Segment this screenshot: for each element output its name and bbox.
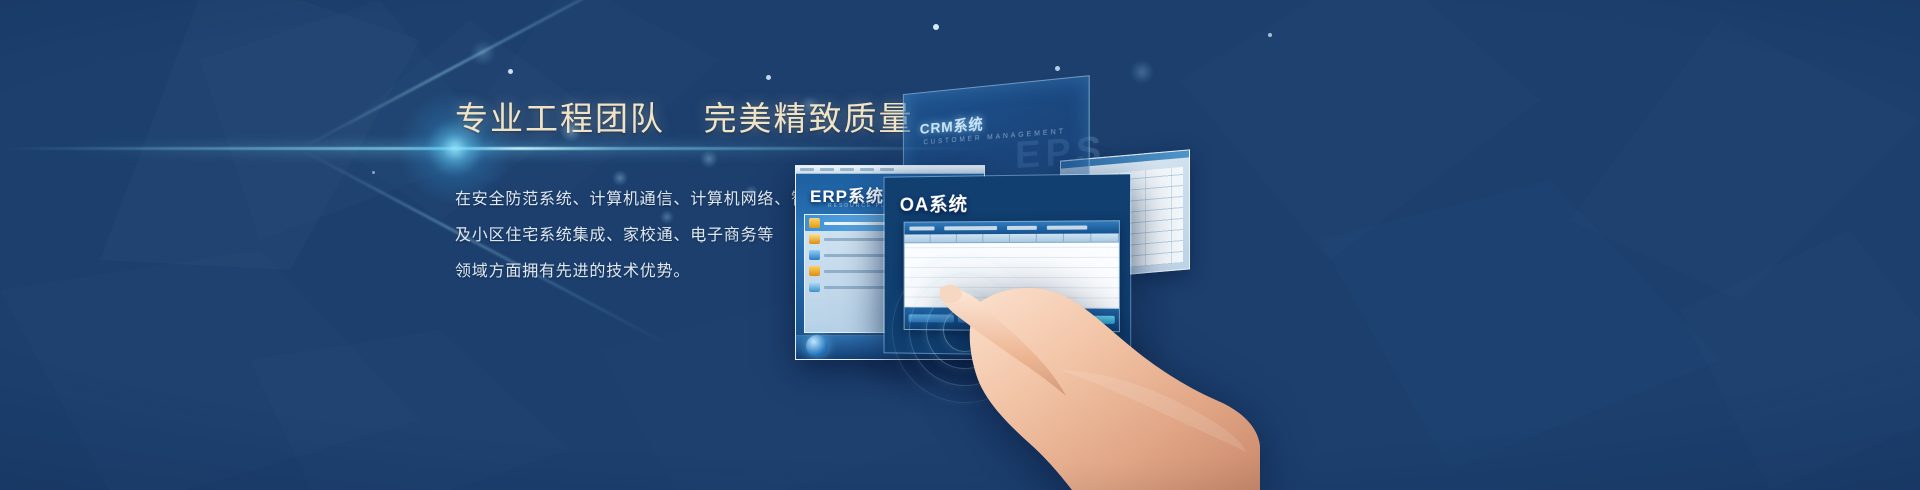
software-screens-illustration: EPS HAN CRM系统 CUSTOMER MANAGEMENT ERP系统 … — [760, 40, 1260, 440]
polygon-shape — [0, 250, 420, 490]
erp-sidebar-label — [824, 270, 891, 273]
table-column — [1091, 233, 1119, 241]
erp-sidebar-item — [805, 279, 895, 295]
polygon-shape — [250, 330, 570, 490]
folder-icon — [809, 266, 820, 276]
erp-sidebar-item — [805, 215, 895, 231]
erp-sidebar-item — [805, 263, 895, 279]
document-icon — [809, 250, 820, 260]
erp-sidebar-label — [824, 286, 891, 289]
polygon-shape — [1680, 230, 1920, 490]
table-column — [1064, 234, 1091, 242]
menubar-item — [800, 168, 814, 171]
start-orb-icon — [806, 335, 828, 357]
erp-sidebar — [804, 214, 896, 333]
menubar-item — [840, 168, 854, 171]
erp-sidebar-item — [805, 231, 895, 247]
menubar-item — [820, 168, 834, 171]
oa-window-title: OA系统 — [900, 189, 968, 216]
erp-menubar — [796, 166, 984, 174]
table-column — [983, 234, 1010, 242]
erp-sidebar-label — [824, 238, 891, 241]
table-column — [931, 234, 957, 242]
particle-dot — [508, 69, 513, 74]
headline-part-1: 专业工程团队 — [455, 102, 665, 138]
bokeh-light — [470, 40, 496, 66]
pointing-hand — [940, 250, 1260, 490]
folder-icon — [809, 218, 820, 228]
table-column — [1010, 234, 1037, 242]
banner-root: 专业工程团队 完美精致质量 在安全防范系统、计算机通信、计算机网络、智能大厦 及… — [0, 0, 1920, 490]
menubar-item — [880, 168, 894, 171]
polygon-shape — [1320, 180, 1720, 470]
polygon-shape — [1560, 20, 1920, 300]
erp-sidebar-item — [805, 247, 895, 263]
particle-dot — [1268, 33, 1272, 37]
table-column — [1037, 234, 1064, 242]
folder-icon — [809, 234, 820, 244]
particle-dot — [372, 171, 375, 174]
oa-toolbar — [905, 221, 1119, 234]
menubar-item — [860, 168, 874, 171]
chart-icon — [809, 282, 820, 292]
toolbar-item — [909, 226, 934, 230]
erp-sidebar-label — [824, 254, 891, 257]
table-column — [957, 234, 983, 242]
erp-sidebar-label — [824, 222, 891, 225]
table-column — [905, 234, 931, 242]
toolbar-item — [1047, 225, 1087, 229]
toolbar-item — [944, 226, 997, 230]
toolbar-item — [1007, 226, 1037, 230]
polygon-shape — [90, 0, 430, 270]
particle-dot — [933, 24, 939, 30]
